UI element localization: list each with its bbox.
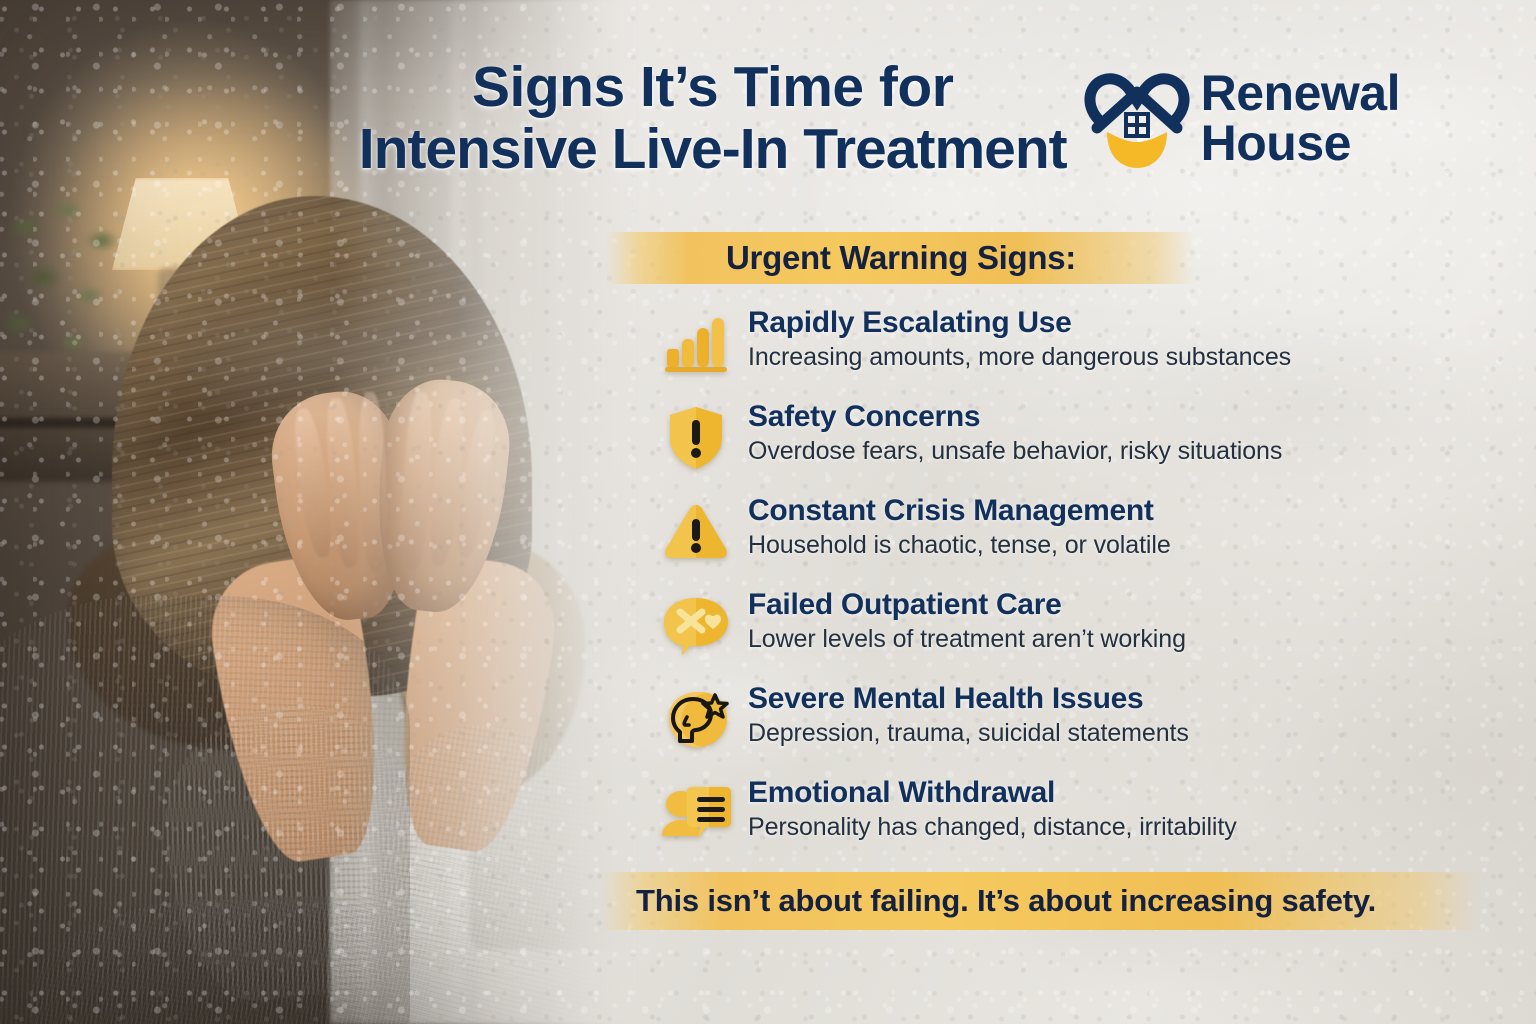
list-item-description: Depression, trauma, suicidal statements: [748, 718, 1460, 749]
brand-logo: Renewal House: [1081, 66, 1400, 170]
head-profile-star-icon: [660, 684, 732, 756]
warning-signs-list: Rapidly Escalating Use Increasing amount…: [660, 306, 1460, 870]
footer-message-banner: This isn’t about failing. It’s about inc…: [600, 872, 1480, 930]
list-item-title: Emotional Withdrawal: [748, 776, 1460, 810]
urgent-warning-signs-banner: Urgent Warning Signs:: [606, 232, 1196, 284]
list-item-title: Safety Concerns: [748, 400, 1460, 434]
poster-header: Signs It’s Time for Intensive Live-In Tr…: [330, 48, 1400, 188]
list-item-text: Failed Outpatient Care Lower levels of t…: [748, 588, 1460, 655]
brand-name-line-1: Renewal: [1201, 68, 1400, 118]
section-heading: Urgent Warning Signs:: [726, 239, 1076, 277]
footer-message: This isn’t about failing. It’s about inc…: [636, 883, 1376, 919]
list-item-text: Severe Mental Health Issues Depression, …: [748, 682, 1460, 749]
brand-name-line-2: House: [1201, 118, 1400, 168]
list-item: Failed Outpatient Care Lower levels of t…: [660, 588, 1460, 682]
bar-chart-icon: [660, 308, 732, 380]
page-title: Signs It’s Time for Intensive Live-In Tr…: [359, 56, 1067, 180]
list-item: Safety Concerns Overdose fears, unsafe b…: [660, 400, 1460, 494]
title-line-2: Intensive Live-In Treatment: [359, 118, 1067, 180]
list-item-description: Personality has changed, distance, irrit…: [748, 812, 1460, 843]
list-item: Constant Crisis Management Household is …: [660, 494, 1460, 588]
speech-bubble-x-icon: [660, 590, 732, 662]
list-item-text: Safety Concerns Overdose fears, unsafe b…: [748, 400, 1460, 467]
list-item-description: Household is chaotic, tense, or volatile: [748, 530, 1460, 561]
warning-triangle-icon: [660, 496, 732, 568]
brand-name: Renewal House: [1201, 68, 1400, 168]
list-item-description: Overdose fears, unsafe behavior, risky s…: [748, 436, 1460, 467]
list-item-title: Rapidly Escalating Use: [748, 306, 1460, 340]
person-speech-bubble-icon: [660, 778, 732, 850]
list-item-title: Constant Crisis Management: [748, 494, 1460, 528]
shield-exclamation-icon: [660, 402, 732, 474]
list-item-description: Increasing amounts, more dangerous subst…: [748, 342, 1460, 373]
list-item-title: Severe Mental Health Issues: [748, 682, 1460, 716]
list-item-text: Constant Crisis Management Household is …: [748, 494, 1460, 561]
title-line-1: Signs It’s Time for: [359, 56, 1067, 118]
list-item-text: Rapidly Escalating Use Increasing amount…: [748, 306, 1460, 373]
list-item-description: Lower levels of treatment aren’t working: [748, 624, 1460, 655]
list-item-text: Emotional Withdrawal Personality has cha…: [748, 776, 1460, 843]
list-item: Emotional Withdrawal Personality has cha…: [660, 776, 1460, 870]
house-heart-hand-logo-icon: [1081, 66, 1193, 170]
list-item: Severe Mental Health Issues Depression, …: [660, 682, 1460, 776]
list-item: Rapidly Escalating Use Increasing amount…: [660, 306, 1460, 400]
infographic-poster: Signs It’s Time for Intensive Live-In Tr…: [0, 0, 1536, 1024]
list-item-title: Failed Outpatient Care: [748, 588, 1460, 622]
